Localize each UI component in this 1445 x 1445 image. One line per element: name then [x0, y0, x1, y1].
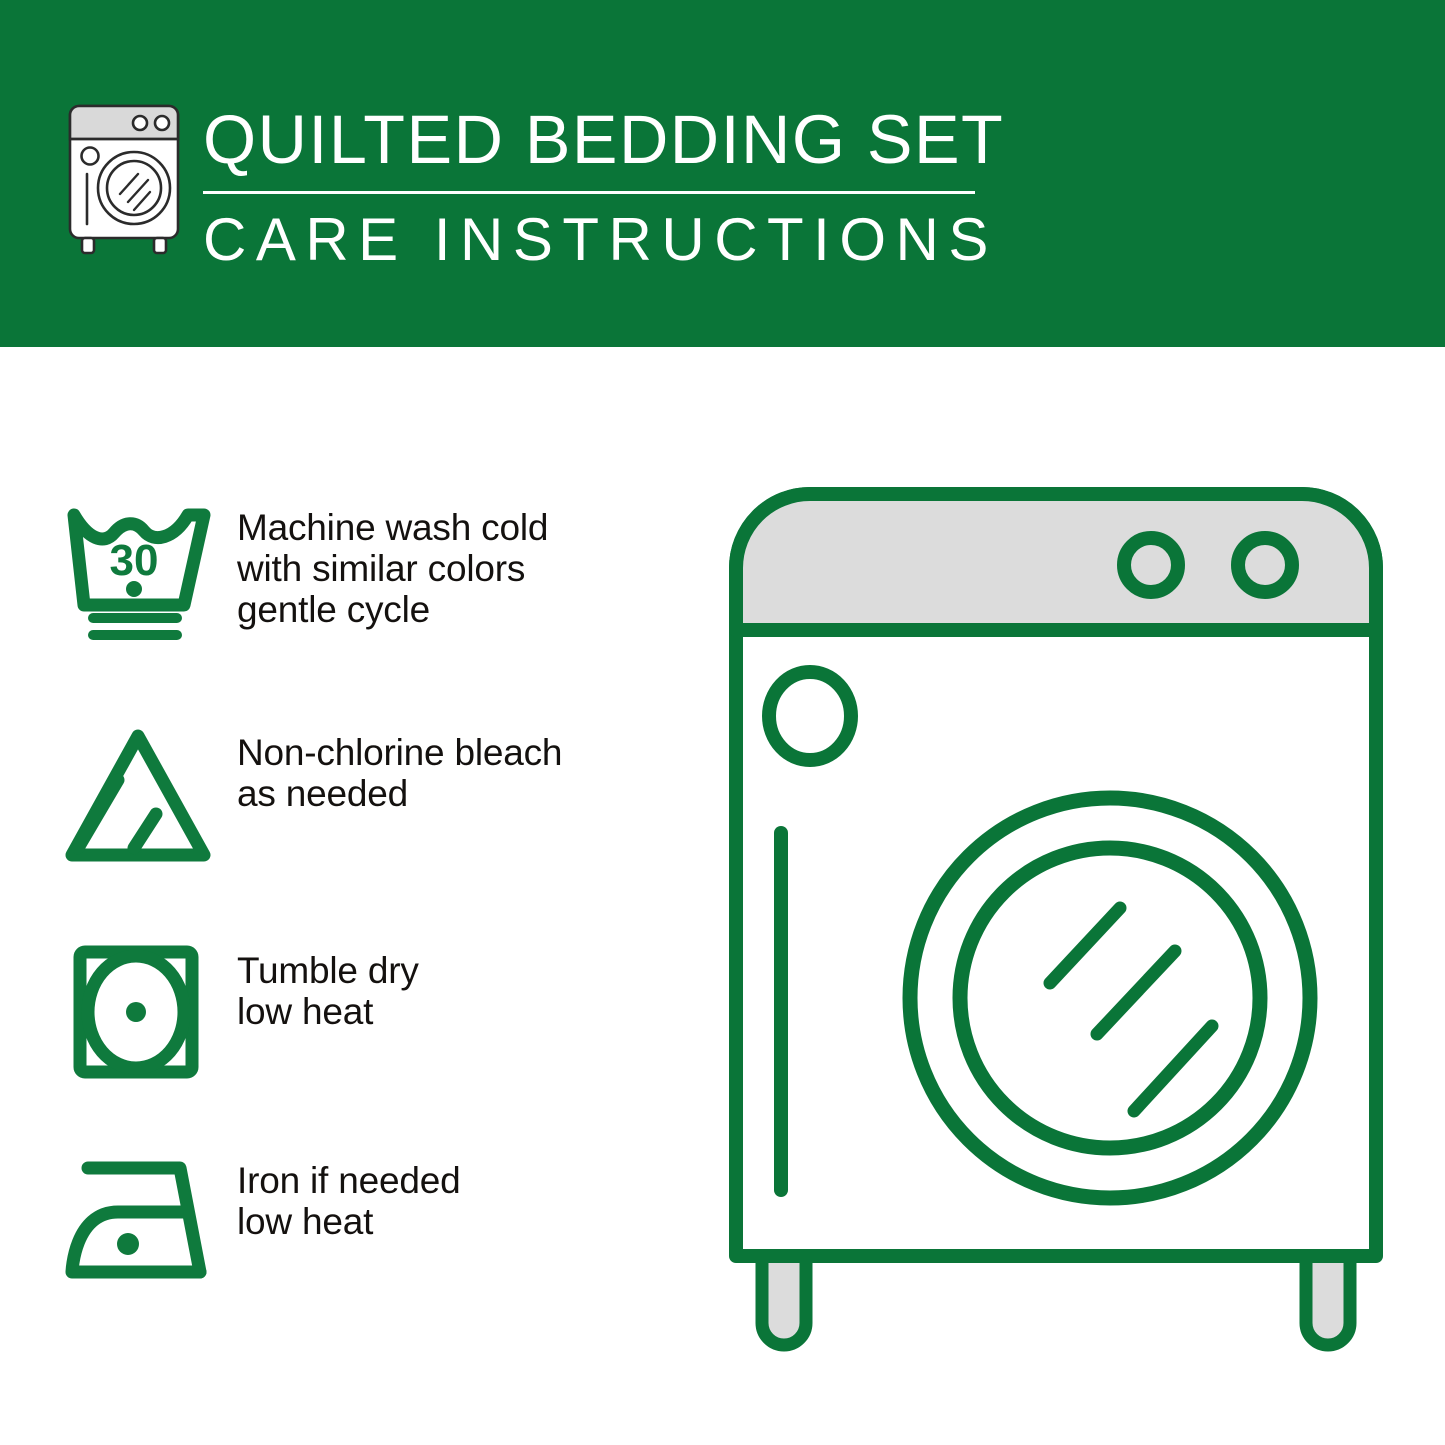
care-text-line: Non-chlorine bleach — [237, 732, 562, 773]
washing-machine-icon — [62, 98, 192, 258]
iron-icon — [62, 1150, 237, 1295]
care-text-tumble-dry: Tumble dry low heat — [237, 940, 419, 1032]
washer-knob — [1238, 538, 1292, 592]
care-text-line: gentle cycle — [237, 589, 548, 630]
page-subtitle: CARE INSTRUCTIONS — [203, 206, 993, 274]
care-row-tumble-dry: Tumble dry low heat — [62, 940, 702, 1085]
care-text-line: Tumble dry — [237, 950, 419, 991]
washer-knob — [1124, 538, 1178, 592]
tumble-dry-icon — [62, 940, 237, 1085]
front-load-washing-machine-illustration — [720, 478, 1392, 1358]
care-text-line: low heat — [237, 991, 419, 1032]
care-instructions-page: QUILTED BEDDING SET CARE INSTRUCTIONS 30… — [0, 0, 1445, 1445]
care-text-line: with similar colors — [237, 548, 548, 589]
header-band: QUILTED BEDDING SET CARE INSTRUCTIONS — [0, 0, 1445, 347]
care-text-iron: Iron if needed low heat — [237, 1150, 460, 1242]
care-row-bleach: Non-chlorine bleach as needed — [62, 722, 702, 867]
wash-tub-30-icon: 30 — [62, 497, 237, 642]
care-row-iron: Iron if needed low heat — [62, 1150, 702, 1295]
header-text-block: QUILTED BEDDING SET CARE INSTRUCTIONS — [203, 100, 993, 274]
page-title: QUILTED BEDDING SET — [203, 100, 985, 180]
washer-door-inner — [960, 848, 1260, 1148]
care-text-machine-wash: Machine wash cold with similar colors ge… — [237, 497, 548, 630]
care-text-line: Machine wash cold — [237, 507, 548, 548]
bleach-triangle-icon — [62, 722, 237, 867]
wash-temperature-label: 30 — [110, 536, 159, 585]
title-divider — [203, 191, 975, 194]
care-text-line: low heat — [237, 1201, 460, 1242]
care-row-machine-wash: 30 Machine wash cold with similar colors… — [62, 497, 702, 642]
care-text-bleach: Non-chlorine bleach as needed — [237, 722, 562, 814]
care-text-line: Iron if needed — [237, 1160, 460, 1201]
washer-indicator-light — [769, 672, 851, 760]
care-text-line: as needed — [237, 773, 562, 814]
